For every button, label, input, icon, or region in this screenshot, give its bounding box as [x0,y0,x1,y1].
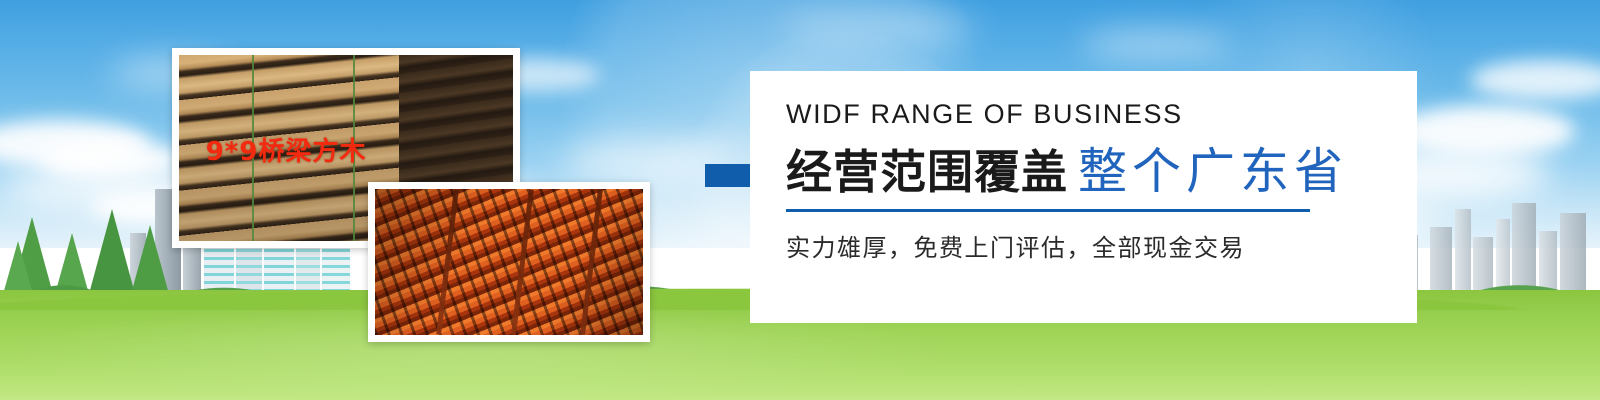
headline-highlight: 整个广东省 [1078,143,1348,200]
text-panel: WIDF RANGE OF BUSINESS 经营范围覆盖整个广东省 实力雄厚，… [750,71,1417,323]
cloud-shape [780,10,980,44]
orange-formwork-photo [368,182,650,342]
cloud-shape [1080,30,1230,60]
headline: 经营范围覆盖整个广东省 [786,146,1391,197]
formwork-shadow [375,189,643,335]
timber-photo-caption: 9*9桥梁方木 [206,131,367,168]
headline-primary: 经营范围覆盖 [786,145,1068,199]
headline-divider [786,209,1310,212]
cloud-shape [1470,60,1600,100]
subtitle-text: 实力雄厚，免费上门评估，全部现金交易 [786,228,1391,263]
text-panel-content: WIDF RANGE OF BUSINESS 经营范围覆盖整个广东省 实力雄厚，… [786,101,1391,263]
orange-formwork-image [375,189,643,335]
promo-banner: 9*9桥梁方木 WIDF RANGE OF BUSINESS 经营范围覆盖整个广… [0,0,1600,400]
eyebrow-text: WIDF RANGE OF BUSINESS [786,101,1391,128]
